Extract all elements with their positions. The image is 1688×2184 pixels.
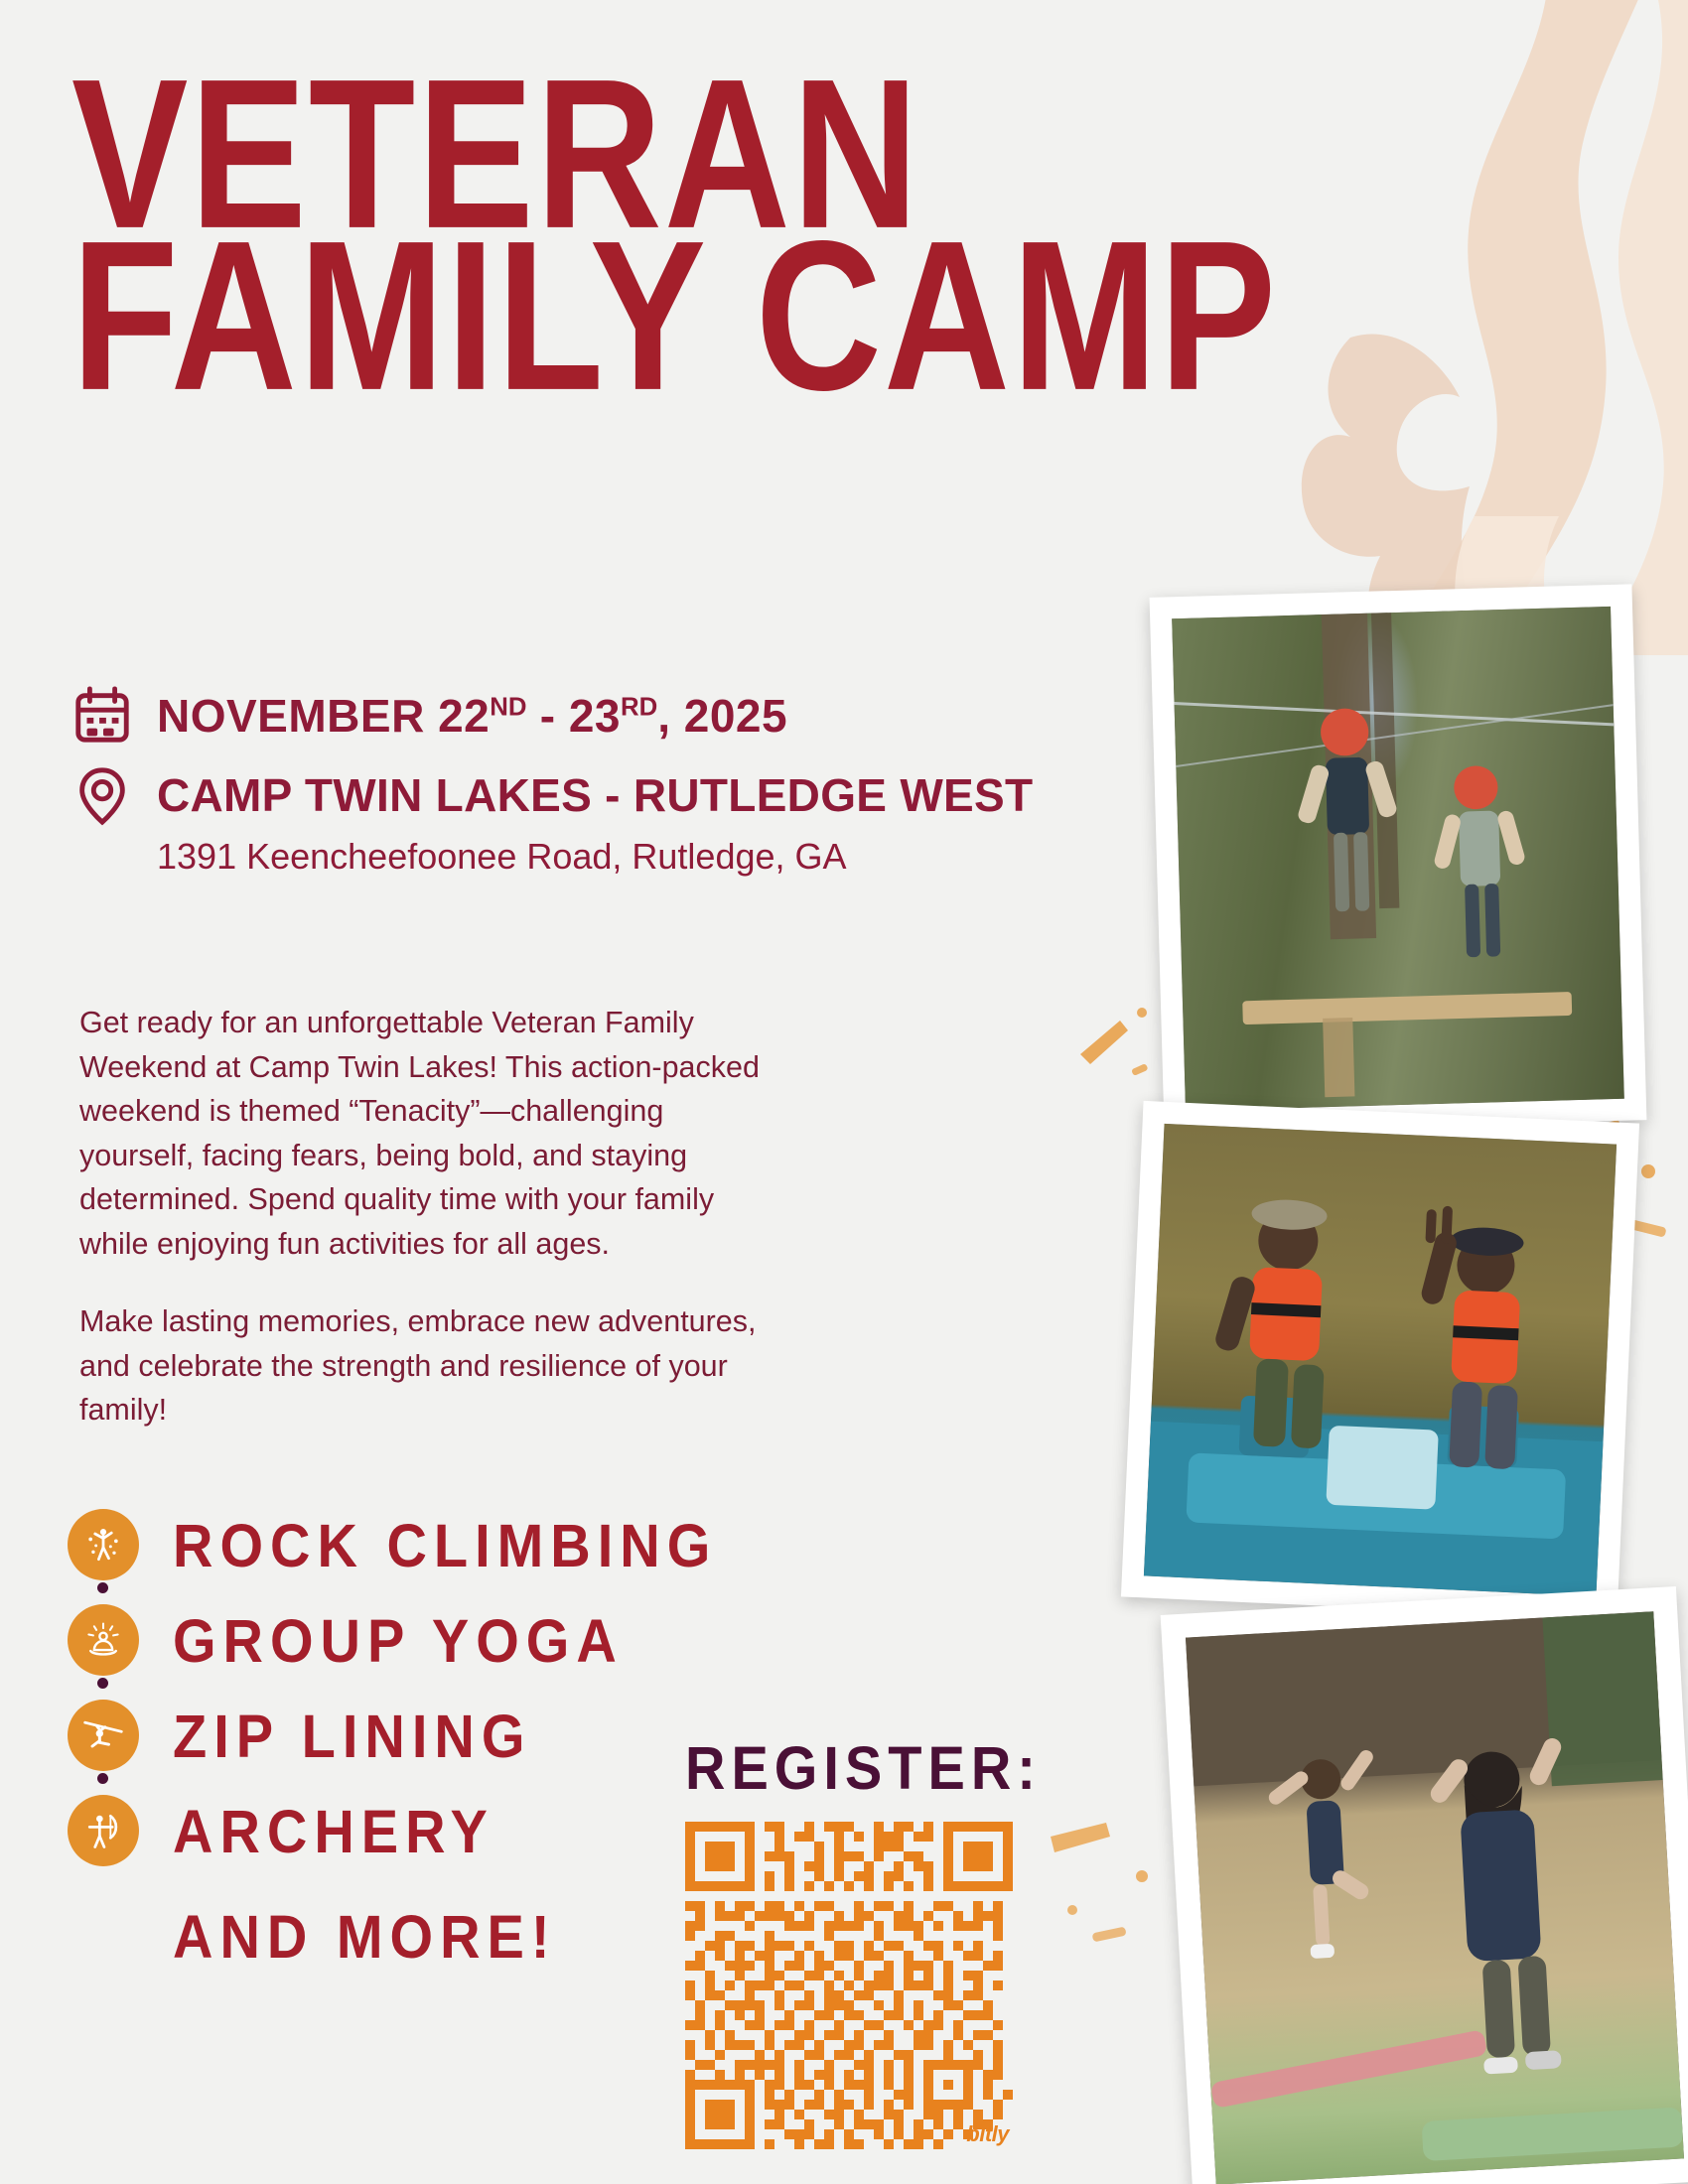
activity-label: ROCK CLIMBING	[173, 1509, 717, 1580]
event-date: NOVEMBER 22ND - 23RD, 2025	[157, 690, 787, 742]
activities-list: ROCK CLIMBING GROUP YOGA	[68, 1497, 703, 1969]
activity-more-label: AND MORE!	[173, 1901, 557, 1973]
photo-pedal-boat	[1121, 1101, 1639, 1619]
event-info: NOVEMBER 22ND - 23RD, 2025 CAMP TWIN LAK…	[71, 685, 906, 878]
description-paragraph-1: Get ready for an unforgettable Veteran F…	[79, 1001, 774, 1266]
paint-splatter-bottom	[1033, 1807, 1172, 1966]
event-date-row: NOVEMBER 22ND - 23RD, 2025	[71, 685, 906, 747]
archery-bow-icon	[68, 1795, 139, 1866]
event-description: Get ready for an unforgettable Veteran F…	[79, 1001, 774, 1466]
description-paragraph-2: Make lasting memories, embrace new adven…	[79, 1299, 774, 1433]
activity-label: GROUP YOGA	[173, 1604, 624, 1676]
bitly-wordmark: bitly	[966, 2121, 1009, 2147]
photo-group-yoga	[1161, 1586, 1688, 2184]
page-title: VETERAN FAMILY CAMP	[71, 52, 1184, 382]
flyer-page: VETERAN FAMILY CAMP NOVEMBER 22ND	[0, 0, 1688, 2184]
qr-code[interactable]: bitly	[685, 1822, 1013, 2149]
event-location-row: CAMP TWIN LAKES - RUTLEDGE WEST 1391 Kee…	[71, 764, 906, 878]
register-label: REGISTER:	[685, 1732, 1043, 1804]
calendar-icon	[71, 685, 133, 747]
activity-item-zip-lining: ZIP LINING	[68, 1688, 703, 1783]
activity-item-archery: ARCHERY	[68, 1783, 703, 1878]
yoga-meditation-icon	[68, 1604, 139, 1676]
activity-label: ARCHERY	[173, 1795, 494, 1866]
photo-rock-climbing	[1150, 584, 1647, 1133]
activity-item-group-yoga: GROUP YOGA	[68, 1592, 703, 1688]
rock-climbing-icon	[68, 1509, 139, 1580]
activity-label: ZIP LINING	[173, 1700, 531, 1771]
event-address: 1391 Keencheefoonee Road, Rutledge, GA	[157, 836, 1033, 878]
activity-item-more: AND MORE!	[68, 1904, 703, 1969]
activity-item-rock-climbing: ROCK CLIMBING	[68, 1497, 703, 1592]
register-section: REGISTER:	[685, 1735, 1043, 2149]
title-line-2: FAMILY CAMP	[71, 213, 1184, 420]
event-venue: CAMP TWIN LAKES - RUTLEDGE WEST	[157, 769, 1033, 821]
zip-lining-icon	[68, 1700, 139, 1771]
map-pin-icon	[71, 764, 133, 826]
